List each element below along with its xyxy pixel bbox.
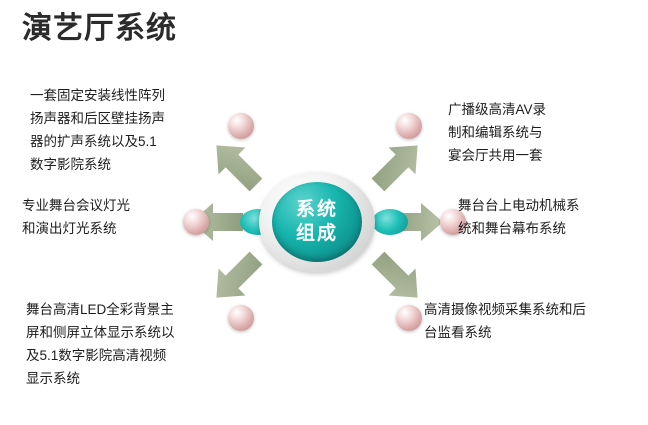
label-bottom-right: 高清摄像视频采集系统和后 台监看系统 [424, 298, 624, 344]
hub-center: 系统 组成 [272, 182, 362, 262]
sphere-icon-bottom-right[interactable] [396, 305, 422, 331]
sphere-icon-top-right[interactable] [396, 113, 422, 139]
arrow-bottom-right [365, 245, 431, 311]
label-middle-right: 舞台台上电动机械系 统和舞台幕布系统 [458, 194, 636, 240]
label-top-right: 广播级高清AV录 制和编辑系统与 宴会厅共用一套 [448, 98, 628, 167]
label-bottom-left: 舞台高清LED全彩背景主 屏和侧屏立体显示系统以 及5.1数字影院高清视频 显示… [26, 298, 226, 390]
hub-petal-right [372, 209, 408, 235]
arrow-top-right [365, 132, 431, 198]
label-top-left: 一套固定安装线性阵列 扬声器和后区壁挂扬声 器的扩声系统以及5.1 数字影院系统 [30, 84, 220, 176]
label-middle-left: 专业舞台会议灯光 和演出灯光系统 [22, 194, 187, 240]
hub-label-line2: 组成 [296, 222, 338, 246]
diagram-canvas: 演艺厅系统 [0, 0, 648, 425]
sphere-icon-bottom-left[interactable] [228, 305, 254, 331]
sphere-icon-top-left[interactable] [228, 113, 254, 139]
hub-label-line1: 系统 [296, 198, 338, 222]
